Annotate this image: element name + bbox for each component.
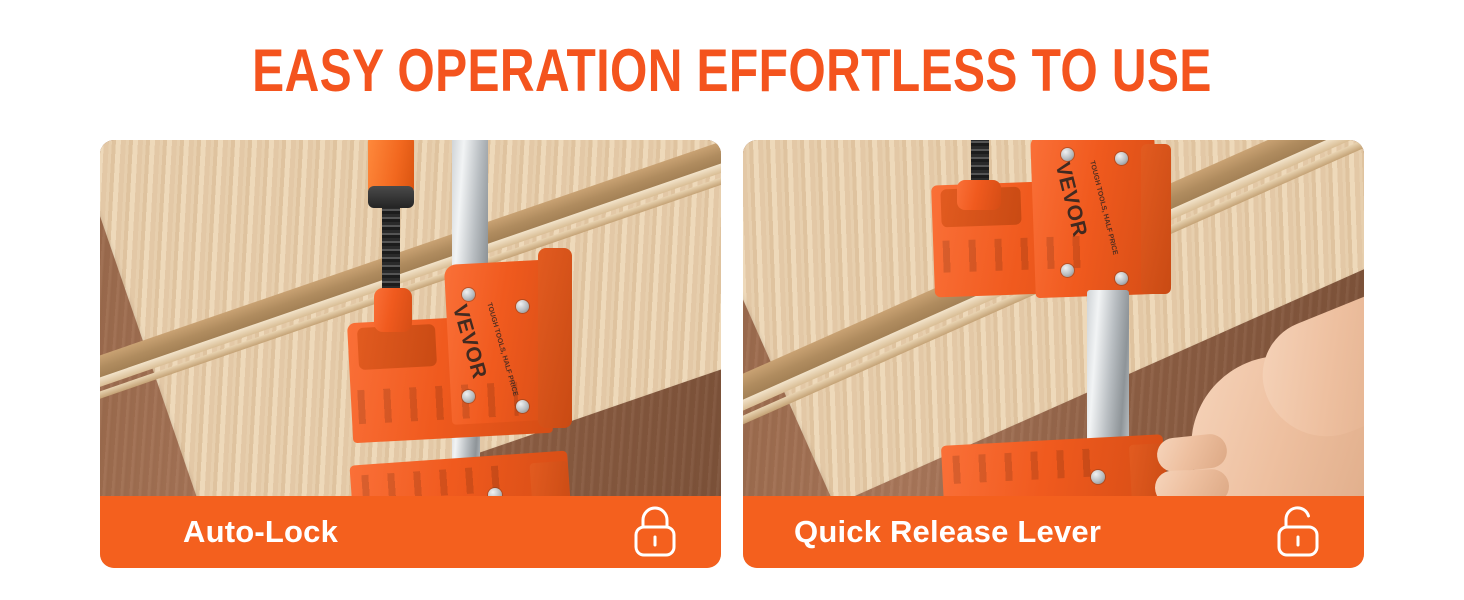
caption-label: Auto-Lock — [183, 515, 338, 549]
hand-finger — [1154, 469, 1229, 496]
clamp-bolt — [1115, 152, 1128, 165]
clamp-bolt — [516, 300, 529, 313]
padlock-open-icon — [1272, 504, 1324, 560]
product-feature-banner: EASY OPERATION EFFORTLESS TO USE — [0, 0, 1464, 600]
clamp-bolt — [1115, 272, 1128, 285]
clamp-handle-collar — [368, 186, 414, 208]
clamp-lower-jaw-end — [529, 461, 572, 496]
caption-bar-quick-release-lever: Quick Release Lever — [743, 496, 1364, 568]
clamp-bolt — [462, 390, 475, 403]
feature-panel-auto-lock[interactable]: VEVOR TOUGH TOOLS, HALF PRICE Auto-Lock — [100, 140, 721, 568]
clamp-lower-bolt — [1091, 470, 1105, 484]
clamp-lower-bolt — [488, 488, 502, 496]
padlock-closed-icon — [629, 504, 681, 560]
feature-panel-quick-release-lever[interactable]: VEVOR TOUGH TOOLS, HALF PRICE Quick Rel — [743, 140, 1364, 568]
auto-lock-photo: VEVOR TOUGH TOOLS, HALF PRICE — [100, 140, 721, 496]
clamp-pivot-knuckle — [374, 288, 412, 332]
feature-panels: VEVOR TOUGH TOOLS, HALF PRICE Auto-Lock — [100, 140, 1364, 568]
clamp-pivot-knuckle — [957, 180, 1001, 210]
caption-label: Quick Release Lever — [794, 515, 1101, 549]
clamp-rail-guide — [1141, 144, 1171, 294]
caption-bar-auto-lock: Auto-Lock — [100, 496, 721, 568]
quick-release-photo: VEVOR TOUGH TOOLS, HALF PRICE — [743, 140, 1364, 496]
clamp-bolt — [462, 288, 475, 301]
clamp-bolt — [516, 400, 529, 413]
page-title: EASY OPERATION EFFORTLESS TO USE — [146, 38, 1317, 104]
clamp-rib-set — [942, 235, 1097, 272]
clamp-bolt — [1061, 264, 1074, 277]
clamp-rail-guide — [538, 248, 572, 428]
